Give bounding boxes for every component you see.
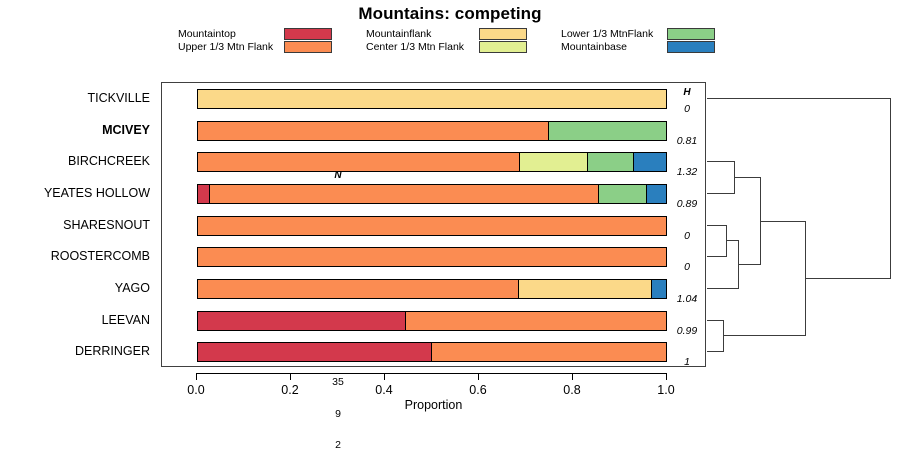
legend-column: Lower 1/3 MtnFlankMountainbase bbox=[561, 28, 715, 53]
legend-item[interactable]: Mountainflank bbox=[366, 28, 527, 40]
x-axis-tick-label: 0.4 bbox=[375, 383, 392, 397]
legend-color-swatch bbox=[284, 28, 332, 40]
bar-segment bbox=[198, 248, 666, 266]
stacked-bars bbox=[162, 83, 705, 366]
bar-segment bbox=[198, 280, 519, 298]
x-axis-tick-label: 0.6 bbox=[469, 383, 486, 397]
h-value: 1.04 bbox=[670, 293, 704, 305]
row-label-mcivey: MCIVEY bbox=[102, 123, 150, 137]
plot-panel: N 31620361583592 bbox=[161, 82, 706, 367]
chart-title: Mountains: competing bbox=[0, 4, 900, 24]
x-axis-line bbox=[196, 373, 666, 374]
x-axis-tick bbox=[666, 373, 667, 380]
bar-segment bbox=[520, 153, 589, 171]
bar-segment bbox=[652, 280, 666, 298]
bar-segment bbox=[198, 90, 666, 108]
x-axis: 0.00.20.40.60.81.0 bbox=[161, 367, 706, 368]
x-axis-tick bbox=[290, 373, 291, 380]
legend-item-label: Upper 1/3 Mtn Flank bbox=[178, 41, 278, 53]
legend-item-label: Mountaintop bbox=[178, 28, 278, 40]
bar-segment bbox=[634, 153, 666, 171]
row-label-derringer: DERRINGER bbox=[75, 344, 150, 358]
legend-item-label: Mountainflank bbox=[366, 28, 473, 40]
legend-item[interactable]: Mountainbase bbox=[561, 41, 715, 53]
legend-item[interactable]: Lower 1/3 MtnFlank bbox=[561, 28, 715, 40]
row-label-axis: TICKVILLEMCIVEYBIRCHCREEKYEATES HOLLOWSH… bbox=[0, 82, 158, 367]
legend-color-swatch bbox=[667, 28, 715, 40]
bar-segment bbox=[198, 312, 406, 330]
legend-color-swatch bbox=[284, 41, 332, 53]
bar-row[interactable] bbox=[197, 89, 667, 109]
h-value: 1.32 bbox=[670, 166, 704, 178]
x-axis-tick bbox=[478, 373, 479, 380]
dendrogram-branch-h bbox=[761, 221, 806, 222]
row-label-birchcreek: BIRCHCREEK bbox=[68, 154, 150, 168]
chart-root: Mountains: competing MountaintopUpper 1/… bbox=[0, 0, 900, 440]
dendrogram-branch-h bbox=[806, 278, 891, 279]
bar-segment bbox=[198, 185, 210, 203]
bar-segment bbox=[198, 153, 520, 171]
bar-segment bbox=[599, 185, 648, 203]
bar-segment bbox=[549, 122, 666, 140]
bar-segment bbox=[647, 185, 666, 203]
dendrogram-branch-v bbox=[890, 98, 891, 278]
h-column-header: H bbox=[670, 87, 704, 98]
dendrogram-branch-h bbox=[735, 177, 761, 178]
legend-color-swatch bbox=[479, 41, 527, 53]
legend-item[interactable]: Upper 1/3 Mtn Flank bbox=[178, 41, 332, 53]
legend-color-swatch bbox=[667, 41, 715, 53]
h-value: 0.99 bbox=[670, 325, 704, 337]
x-axis-tick bbox=[384, 373, 385, 380]
dendrogram-branch-h bbox=[707, 161, 735, 162]
bar-segment bbox=[519, 280, 652, 298]
bar-row[interactable] bbox=[197, 121, 667, 141]
bar-row[interactable] bbox=[197, 311, 667, 331]
x-axis-tick-label: 0.8 bbox=[563, 383, 580, 397]
legend-item[interactable]: Mountaintop bbox=[178, 28, 332, 40]
h-value: 0 bbox=[670, 103, 704, 115]
x-axis-title: Proportion bbox=[161, 398, 706, 412]
dendrogram-branch-h bbox=[707, 320, 724, 321]
legend-column: MountaintopUpper 1/3 Mtn Flank bbox=[178, 28, 332, 53]
dendrogram-branch-h bbox=[739, 264, 761, 265]
bar-segment bbox=[432, 343, 666, 361]
legend-column: MountainflankCenter 1/3 Mtn Flank bbox=[366, 28, 527, 53]
bar-row[interactable] bbox=[197, 342, 667, 362]
row-label-yeates-hollow: YEATES HOLLOW bbox=[44, 186, 150, 200]
x-axis-tick-label: 0.2 bbox=[281, 383, 298, 397]
n-value: 35 bbox=[323, 376, 353, 388]
legend-item-label: Center 1/3 Mtn Flank bbox=[366, 41, 473, 53]
bar-segment bbox=[406, 312, 666, 330]
dendrogram-branch-h bbox=[707, 98, 891, 99]
legend-item-label: Mountainbase bbox=[561, 41, 661, 53]
dendrogram-branch-h bbox=[707, 193, 735, 194]
bar-row[interactable] bbox=[197, 247, 667, 267]
h-column: H 00.811.320.89001.040.991 bbox=[666, 82, 708, 367]
legend-item-label: Lower 1/3 MtnFlank bbox=[561, 28, 661, 40]
h-value: 0 bbox=[670, 261, 704, 273]
row-label-sharesnout: SHARESNOUT bbox=[63, 218, 150, 232]
row-label-tickville: TICKVILLE bbox=[87, 91, 150, 105]
x-axis-tick bbox=[572, 373, 573, 380]
h-value: 0.81 bbox=[670, 135, 704, 147]
n-value: 2 bbox=[323, 439, 353, 451]
legend-item[interactable]: Center 1/3 Mtn Flank bbox=[366, 41, 527, 53]
row-label-yago: YAGO bbox=[115, 281, 150, 295]
x-axis-tick bbox=[196, 373, 197, 380]
dendrogram-branch-h bbox=[707, 288, 739, 289]
h-value: 0.89 bbox=[670, 198, 704, 210]
bar-segment bbox=[588, 153, 634, 171]
chart-legend: MountaintopUpper 1/3 Mtn FlankMountainfl… bbox=[178, 28, 715, 53]
x-axis-tick-label: 0.0 bbox=[187, 383, 204, 397]
dendrogram-branch-h bbox=[707, 256, 727, 257]
dendrogram-branch-h bbox=[707, 225, 727, 226]
bar-segment bbox=[198, 343, 432, 361]
bar-segment bbox=[198, 217, 666, 235]
bar-segment bbox=[198, 122, 549, 140]
bar-row[interactable] bbox=[197, 279, 667, 299]
legend-color-swatch bbox=[479, 28, 527, 40]
x-axis-tick-label: 1.0 bbox=[657, 383, 674, 397]
dendrogram-branch-h bbox=[724, 335, 806, 336]
bar-row[interactable] bbox=[197, 184, 667, 204]
bar-segment bbox=[210, 185, 598, 203]
row-label-roostercomb: ROOSTERCOMB bbox=[51, 249, 150, 263]
dendrogram bbox=[706, 82, 900, 367]
bar-row[interactable] bbox=[197, 216, 667, 236]
h-value: 0 bbox=[670, 230, 704, 242]
dendrogram-branch-h bbox=[707, 351, 724, 352]
bar-row[interactable] bbox=[197, 152, 667, 172]
row-label-leevan: LEEVAN bbox=[102, 313, 150, 327]
